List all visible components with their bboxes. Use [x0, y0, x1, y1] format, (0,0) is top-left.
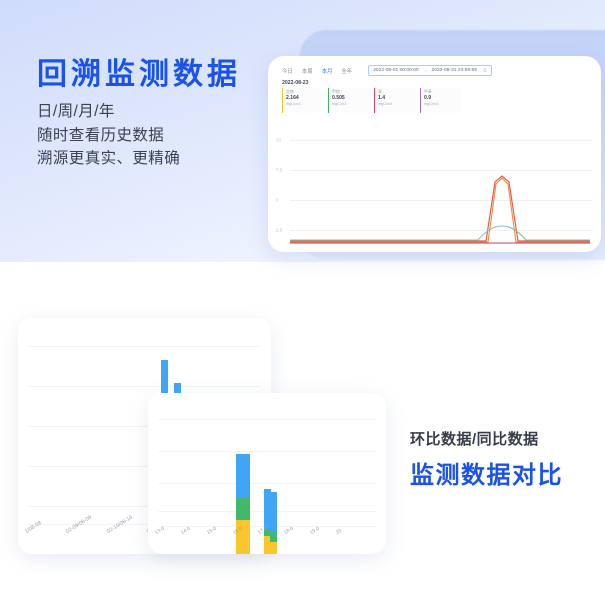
metric-unit: mgC/m3 — [332, 102, 370, 107]
line-chart-plot-area: 10 7.5 5 2.5 — [274, 134, 595, 244]
bar-segment-yellow — [270, 542, 277, 554]
range-separator-icon: → — [423, 68, 428, 73]
bar-chart-b: 13-014-015-016-017-018-019-020 — [148, 393, 386, 554]
tab-this-week[interactable]: 本周 — [302, 67, 313, 75]
bar-segment-yellow — [264, 536, 271, 554]
bar-stack — [264, 489, 271, 554]
metric-card-3: 甲苯 0.9 mgC/m3 — [420, 88, 462, 113]
trend-curves — [290, 174, 590, 244]
hero-line-3: 溯源更真实、更精确 — [37, 147, 241, 171]
tab-today[interactable]: 今日 — [282, 67, 293, 75]
page-title: 回溯监测数据 — [37, 58, 241, 91]
caption-title: 监测数据对比 — [410, 455, 563, 490]
hero-line-2: 随时查看历史数据 — [37, 124, 241, 148]
caption-subtitle: 环比数据/同比数据 — [410, 428, 563, 449]
caption-block: 环比数据/同比数据 监测数据对比 — [410, 428, 563, 490]
dashboard-card: 今日 本周 本月 全年 2022-08-01 00:00:00 → 2022-0… — [268, 56, 601, 252]
metric-value: 2.164 — [286, 95, 324, 102]
bar-stack — [270, 492, 277, 554]
bar-segment-blue — [270, 492, 277, 532]
metric-value: 0.505 — [332, 95, 370, 102]
bar-segment-green — [270, 532, 277, 542]
metric-unit: mgC/m3 — [424, 102, 462, 107]
metric-card-0: 总铬 2.164 mgC/m3 — [282, 88, 324, 113]
date-range-input[interactable]: 2022-08-01 00:00:00 → 2022-08-31 23:59:5… — [368, 65, 492, 76]
range-end-value: 2022-08-31 23:59:59 — [432, 68, 477, 73]
y-tick-3: 2.5 — [276, 228, 282, 233]
hero-line-1: 日/周/月/年 — [37, 100, 241, 124]
bar-chart-card-secondary: 13-014-015-016-017-018-019-020 — [148, 393, 386, 554]
metric-card-list: 总铬 2.164 mgC/m3 甲烷 0.505 mgC/m3 苯 1.4 mg… — [276, 88, 593, 113]
dashboard-date-label: 2022-08-23 — [282, 80, 593, 86]
hero-text-block: 回溯监测数据 日/周/月/年 随时查看历史数据 溯源更真实、更精确 — [37, 58, 241, 171]
tab-this-month[interactable]: 本月 — [322, 67, 333, 75]
y-tick-2: 5 — [276, 198, 278, 203]
y-tick-0: 10 — [276, 138, 281, 143]
clock-icon: ⏱ — [483, 68, 487, 74]
metric-value: 0.9 — [424, 95, 462, 102]
period-tab-bar: 今日 本周 本月 全年 2022-08-01 00:00:00 → 2022-0… — [276, 62, 593, 76]
metric-value: 1.4 — [378, 95, 416, 102]
metric-unit: mgC/m3 — [378, 102, 416, 107]
dashboard-content: 今日 本周 本月 全年 2022-08-01 00:00:00 → 2022-0… — [268, 56, 601, 252]
bar-segment-blue — [264, 489, 271, 529]
y-tick-1: 7.5 — [276, 168, 282, 173]
range-start-value: 2022-08-01 00:00:00 — [373, 68, 418, 73]
bar-stack — [243, 454, 250, 554]
tab-full-year[interactable]: 全年 — [341, 67, 352, 75]
metric-card-1: 甲烷 0.505 mgC/m3 — [328, 88, 370, 113]
bar-segment-green — [243, 498, 250, 520]
hero-subtitle-list: 日/周/月/年 随时查看历史数据 溯源更真实、更精确 — [37, 100, 241, 171]
bar-segment-blue — [243, 454, 250, 498]
bar-segment-blue — [236, 454, 243, 498]
bar-stack — [236, 454, 243, 554]
metric-unit: mgC/m3 — [286, 102, 324, 107]
bar-segment-yellow — [243, 520, 250, 554]
metric-card-2: 苯 1.4 mgC/m3 — [374, 88, 416, 113]
bar-segment-green — [236, 498, 243, 520]
